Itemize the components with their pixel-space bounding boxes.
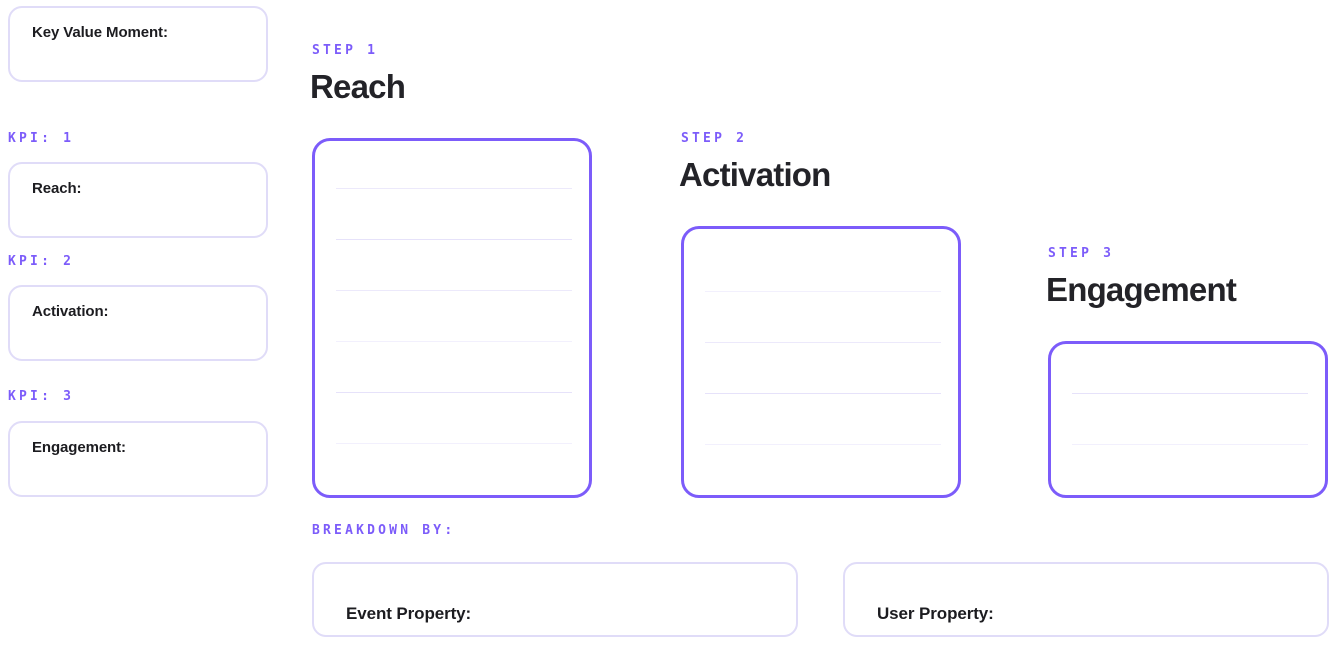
step-3-notes-card[interactable] (1048, 341, 1328, 498)
user-property-label: User Property: (877, 604, 994, 624)
step-1-notes-card[interactable] (312, 138, 592, 498)
key-value-moment-card[interactable]: Key Value Moment: (8, 6, 268, 82)
step-3-title: Engagement (1046, 273, 1236, 306)
kpi-1-eyebrow: KPI: 1 (8, 131, 74, 146)
rule-line (336, 443, 572, 444)
step-3-eyebrow: STEP 3 (1048, 246, 1114, 261)
kpi-2-card[interactable]: Activation: (8, 285, 268, 361)
rule-line (705, 444, 941, 445)
kpi-1-label: Reach: (32, 180, 81, 197)
step-1-eyebrow: STEP 1 (312, 43, 378, 58)
key-value-moment-label: Key Value Moment: (32, 24, 168, 41)
user-property-card[interactable]: User Property: (843, 562, 1329, 637)
rule-line (705, 342, 941, 343)
step-1-title: Reach (310, 70, 405, 103)
kpi-2-label: Activation: (32, 303, 108, 320)
step-2-notes-card[interactable] (681, 226, 961, 498)
rule-line (336, 341, 572, 342)
kpi-3-label: Engagement: (32, 439, 126, 456)
kpi-3-eyebrow: KPI: 3 (8, 389, 74, 404)
rule-line (336, 239, 572, 240)
kpi-3-card[interactable]: Engagement: (8, 421, 268, 497)
rule-line (336, 290, 572, 291)
worksheet-canvas: Key Value Moment: KPI: 1 Reach: KPI: 2 A… (0, 0, 1337, 646)
event-property-card[interactable]: Event Property: (312, 562, 798, 637)
kpi-2-eyebrow: KPI: 2 (8, 254, 74, 269)
rule-line (336, 392, 572, 393)
breakdown-by-eyebrow: BREAKDOWN BY: (312, 523, 455, 538)
event-property-label: Event Property: (346, 604, 471, 624)
rule-line (336, 188, 572, 189)
kpi-1-card[interactable]: Reach: (8, 162, 268, 238)
rule-line (705, 291, 941, 292)
rule-line (1072, 393, 1308, 394)
step-2-eyebrow: STEP 2 (681, 131, 747, 146)
rule-line (1072, 444, 1308, 445)
step-2-title: Activation (679, 158, 831, 191)
rule-line (705, 393, 941, 394)
